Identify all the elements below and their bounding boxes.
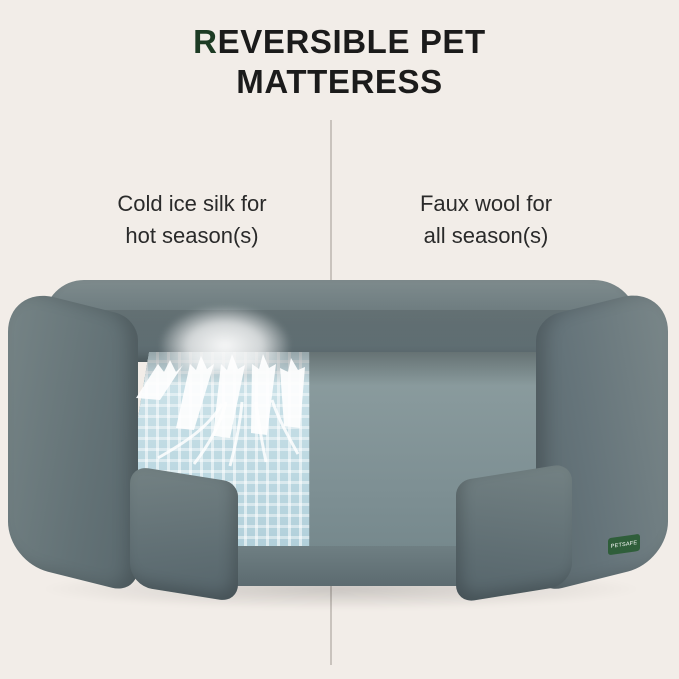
left-caption-line-1: Cold ice silk for (42, 188, 342, 220)
title-accent-letter: R (193, 23, 217, 60)
front-right-bolster (456, 463, 572, 603)
pet-bed-image: PETSAFE (8, 268, 671, 628)
front-left-bolster (130, 465, 238, 602)
page-title: REVERSIBLE PET MATTERESS (0, 22, 679, 103)
product-infographic: REVERSIBLE PET MATTERESS Cold ice silk f… (0, 0, 679, 679)
right-caption-line-2: all season(s) (336, 220, 636, 252)
right-caption-line-1: Faux wool for (336, 188, 636, 220)
title-line-1-rest: EVERSIBLE PET (218, 23, 486, 60)
cooling-mist (160, 306, 290, 372)
mattress-front-lip (221, 546, 474, 586)
title-line-1: REVERSIBLE PET (0, 22, 679, 62)
left-bolster (8, 286, 138, 594)
title-line-2: MATTERESS (0, 62, 679, 102)
left-caption: Cold ice silk for hot season(s) (42, 188, 342, 252)
left-caption-line-2: hot season(s) (42, 220, 342, 252)
right-caption: Faux wool for all season(s) (336, 188, 636, 252)
